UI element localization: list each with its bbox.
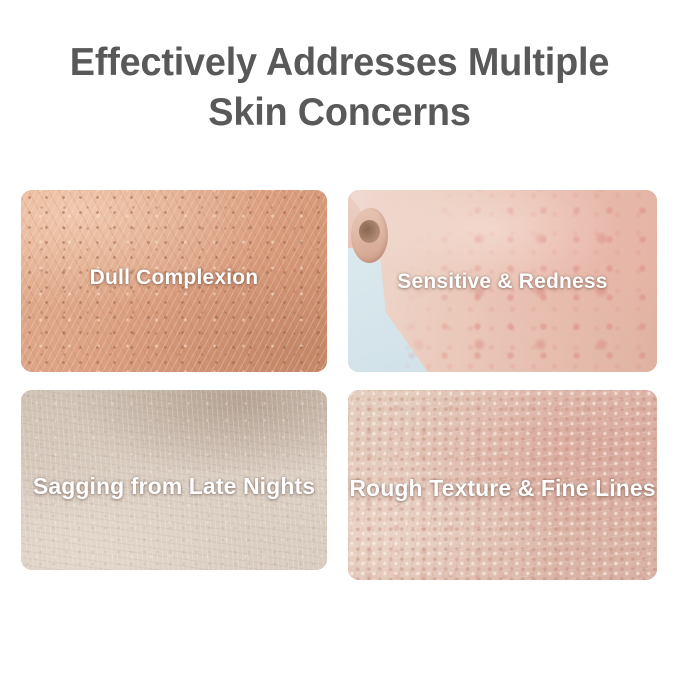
concern-label-sagging-late-nights: Sagging from Late Nights	[21, 473, 327, 500]
concern-card-dull-complexion[interactable]: Dull Complexion	[21, 190, 327, 372]
concern-label-dull-complexion: Dull Complexion	[21, 266, 327, 290]
concern-label-rough-texture-fine-lines: Rough Texture & Fine Lines	[348, 475, 657, 502]
concern-card-rough-texture-fine-lines[interactable]: Rough Texture & Fine Lines	[348, 390, 657, 580]
concern-card-sagging-late-nights[interactable]: Sagging from Late Nights	[21, 390, 327, 570]
concern-label-sensitive-redness: Sensitive & Redness	[348, 270, 657, 294]
concerns-grid: Dull Complexion Sensitive & Redness Sagg…	[0, 0, 679, 679]
concern-card-sensitive-redness[interactable]: Sensitive & Redness	[348, 190, 657, 372]
